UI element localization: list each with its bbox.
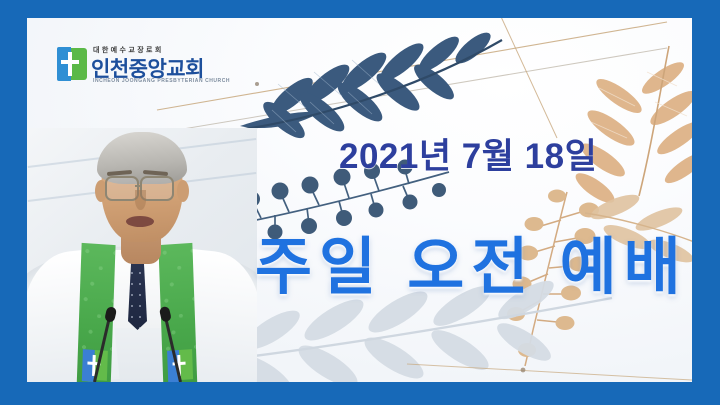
- eyeglasses-left: [105, 176, 139, 201]
- service-title: 주일 오전 예배: [255, 216, 688, 306]
- preacher-video: [27, 128, 257, 382]
- thin-line-decor-bottom: [427, 348, 692, 382]
- service-date: 2021년 7월 18일: [339, 128, 597, 179]
- logo-english-name: INCHEON JOONGANG PRESBYTERIAN CHURCH: [93, 78, 230, 84]
- broadcast-frame: 2021년 7월 18일 주일 오전 예배 대한예수교장로회 인천중앙교회 IN…: [0, 0, 720, 405]
- nose: [135, 190, 146, 210]
- church-cross-logo-icon: [57, 47, 87, 81]
- ear-right: [177, 180, 189, 202]
- eyeglasses-bridge: [135, 185, 142, 187]
- necktie-pattern: [128, 256, 147, 330]
- mouth: [126, 216, 154, 227]
- thin-line-decor: [197, 18, 692, 138]
- slide-canvas: 2021년 7월 18일 주일 오전 예배 대한예수교장로회 인천중앙교회 IN…: [27, 18, 692, 382]
- necktie: [128, 256, 147, 330]
- church-logo: 대한예수교장로회 인천중앙교회 INCHEON JOONGANG PRESBYT…: [57, 45, 207, 87]
- navy-olive-branch-decor: [232, 26, 512, 136]
